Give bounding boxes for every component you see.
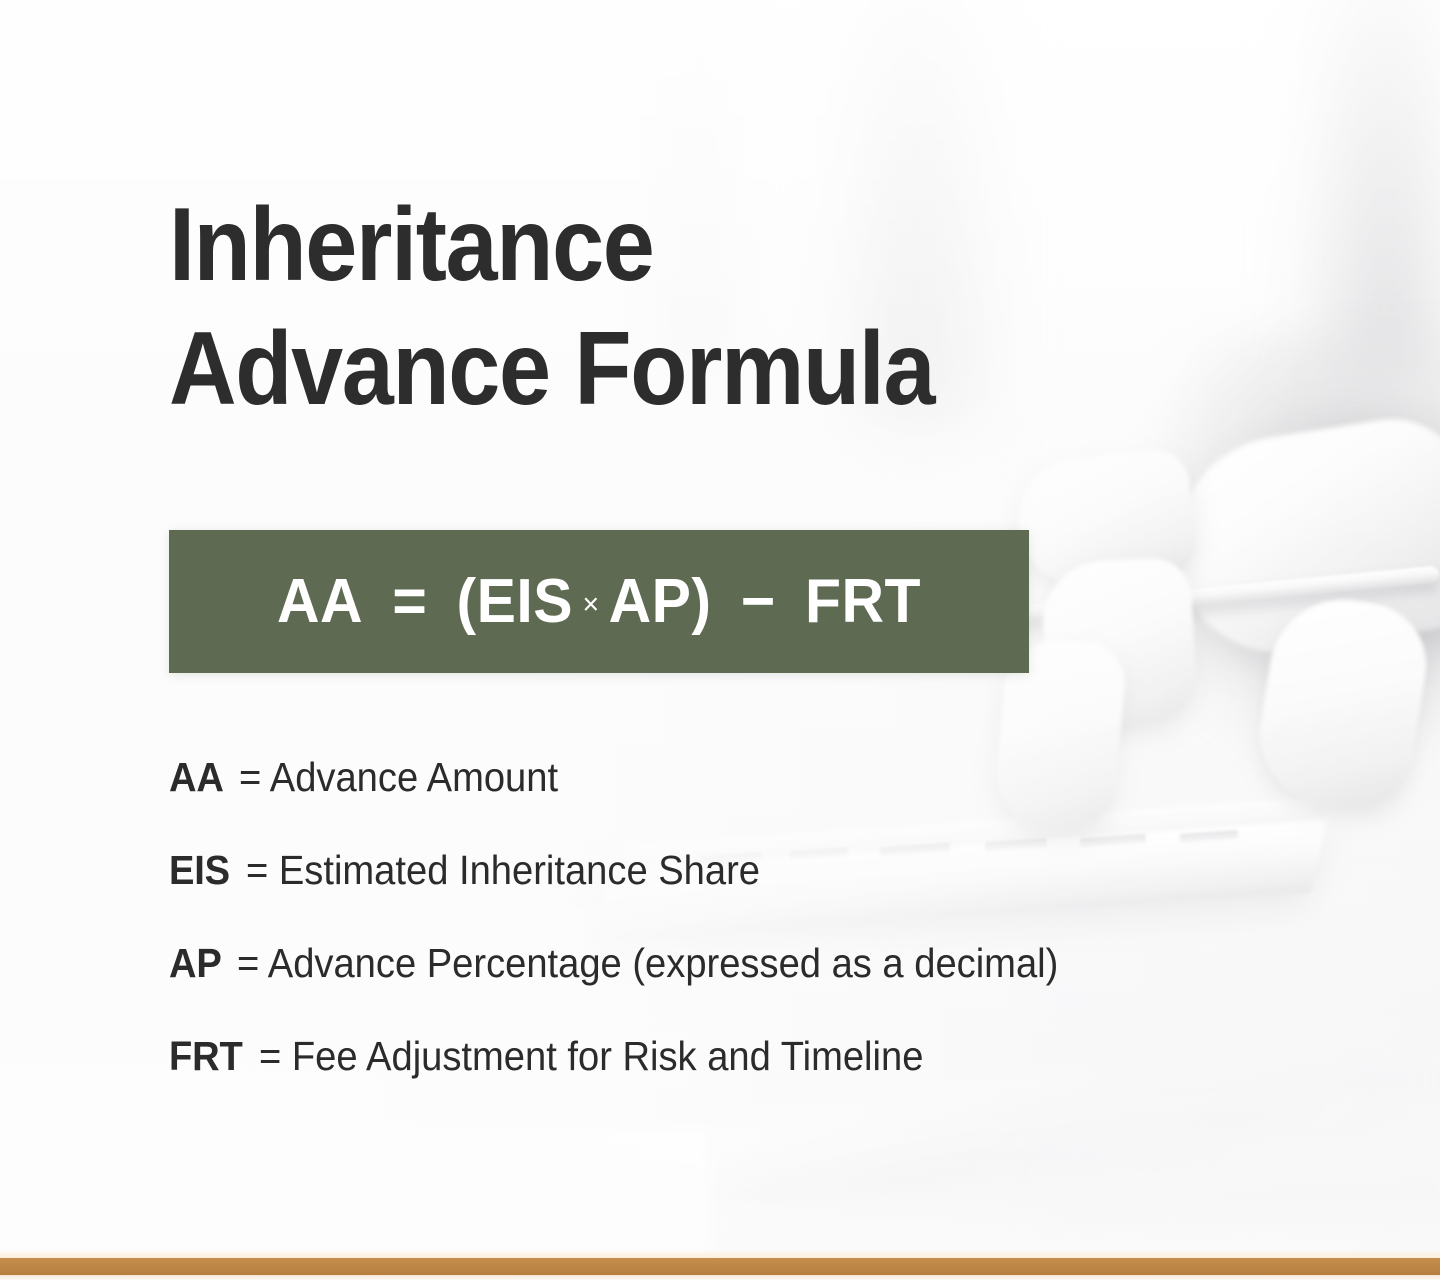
formula-lhs: AA bbox=[277, 567, 363, 636]
formula-banner: AA = (EIS×AP) − FRT bbox=[169, 530, 1029, 673]
slide-content: Inheritance Advance Formula AA = (EIS×AP… bbox=[0, 0, 1440, 1280]
legend-abbreviation: AA bbox=[169, 757, 224, 798]
legend-abbreviation: AP bbox=[169, 943, 222, 984]
formula-close-group: AP) bbox=[609, 567, 712, 636]
legend-definition: = Fee Adjustment for Risk and Timeline bbox=[259, 1036, 923, 1077]
minus-operator: − bbox=[741, 567, 776, 636]
formula-open-group: (EIS bbox=[457, 567, 573, 636]
legend-abbreviation: FRT bbox=[169, 1036, 243, 1077]
bottom-accent-bar bbox=[0, 1258, 1440, 1275]
legend-item: FRT = Fee Adjustment for Risk and Timeli… bbox=[169, 1036, 1349, 1129]
legend-item: AA = Advance Amount bbox=[169, 757, 1349, 850]
legend-definition: = Estimated Inheritance Share bbox=[246, 850, 760, 891]
legend-item: EIS = Estimated Inheritance Share bbox=[169, 850, 1349, 943]
legend-definition: = Advance Percentage (expressed as a dec… bbox=[237, 943, 1058, 984]
legend-definition: = Advance Amount bbox=[239, 757, 558, 798]
formula-rhs-term: FRT bbox=[805, 567, 921, 636]
multiply-operator: × bbox=[573, 588, 609, 621]
bottom-bar-glow bbox=[0, 1249, 1440, 1258]
slide-canvas: Inheritance Advance Formula AA = (EIS×AP… bbox=[0, 0, 1440, 1280]
legend-list: AA = Advance Amount EIS = Estimated Inhe… bbox=[169, 757, 1349, 1129]
legend-abbreviation: EIS bbox=[169, 850, 230, 891]
bottom-bar-underline bbox=[0, 1275, 1440, 1280]
page-title: Inheritance Advance Formula bbox=[169, 183, 1069, 431]
formula-expression: AA = (EIS×AP) − FRT bbox=[277, 566, 921, 637]
formula-equals: = bbox=[392, 567, 427, 636]
legend-item: AP = Advance Percentage (expressed as a … bbox=[169, 943, 1349, 1036]
